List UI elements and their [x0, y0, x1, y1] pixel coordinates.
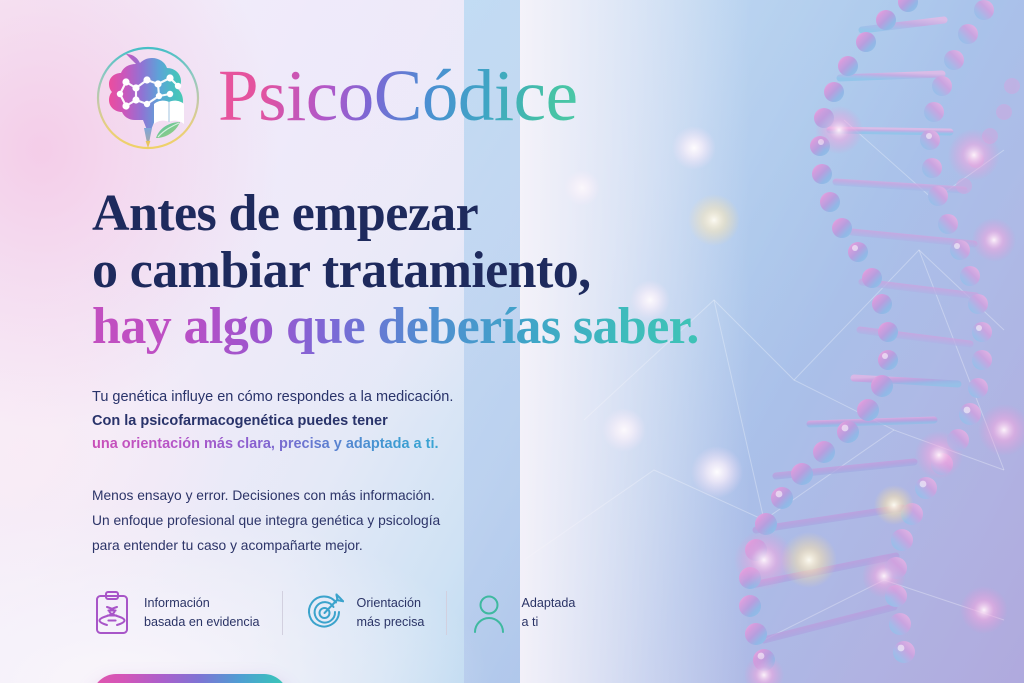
feature-evidence-label: Información basada en evidencia [144, 594, 260, 632]
brain-book-circle-logo-icon [92, 42, 204, 154]
feature-strip: Información basada en evidencia [92, 590, 1024, 636]
feature-precision-line-2: más precisa [357, 613, 425, 632]
intro-line-2: Con la psicofarmacogenética puedes tener [92, 410, 1024, 433]
headline-line-2: o cambiar tratamiento, [92, 242, 591, 299]
target-arrow-icon [305, 590, 345, 636]
wordmark: PsicoCódice [218, 59, 577, 138]
clipboard-dna-icon [92, 590, 132, 636]
hero-banner: PsicoCódice Antes de empezar o cambiar t… [0, 0, 1024, 683]
page-title: Antes de empezar o cambiar tratamiento, … [92, 186, 1024, 356]
body-line-2: Un enfoque profesional que integra genét… [92, 509, 1024, 534]
body-paragraph: Menos ensayo y error. Decisiones con más… [92, 484, 1024, 558]
intro-line-1: Tu genética influye en cómo respondes a … [92, 386, 1024, 409]
feature-evidence-line-2: basada en evidencia [144, 613, 260, 632]
headline-line-3: hay algo que deberías saber. [92, 299, 699, 356]
feature-precision-line-1: Orientación [357, 594, 425, 613]
feature-evidence: Información basada en evidencia [92, 590, 260, 636]
headline-line-1: Antes de empezar [92, 185, 478, 242]
body-line-1: Menos ensayo y error. Decisiones con más… [92, 484, 1024, 509]
feature-personalized-line-2: a ti [521, 613, 575, 632]
brand-logo[interactable]: PsicoCódice [92, 42, 1024, 154]
feature-personalized-line-1: Adaptada [521, 594, 575, 613]
body-line-3: para entender tu caso y acompañarte mejo… [92, 534, 1024, 559]
feature-evidence-line-1: Información [144, 594, 260, 613]
feature-divider-2 [446, 591, 447, 635]
intro-line-3: una orientación más clara, precisa y ada… [92, 433, 439, 456]
ver-opciones-button[interactable]: Ver opciones → [92, 674, 288, 683]
feature-personalized: Adaptada a ti [469, 590, 575, 636]
hero-content: PsicoCódice Antes de empezar o cambiar t… [0, 0, 1024, 683]
person-icon [469, 590, 509, 636]
feature-precision: Orientación más precisa [305, 590, 425, 636]
feature-precision-label: Orientación más precisa [357, 594, 425, 632]
feature-divider-1 [282, 591, 283, 635]
intro-paragraph: Tu genética influye en cómo respondes a … [92, 386, 1024, 456]
feature-personalized-label: Adaptada a ti [521, 594, 575, 632]
